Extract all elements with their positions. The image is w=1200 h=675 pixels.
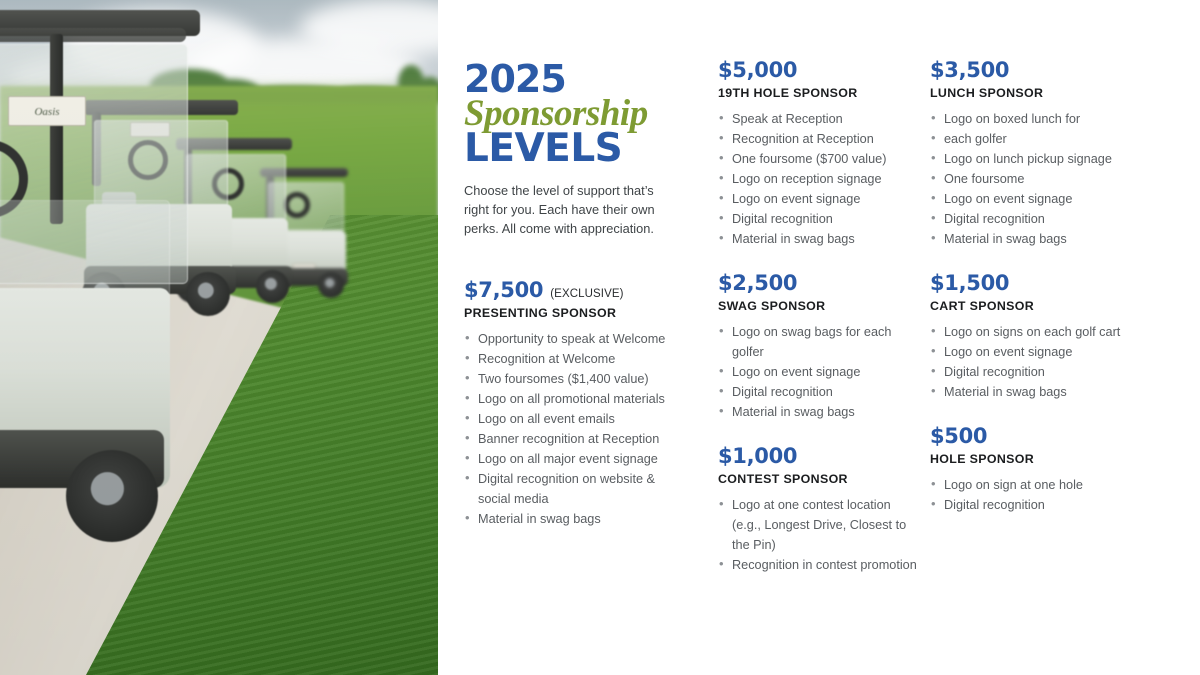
- cart-wheel: [66, 450, 158, 542]
- tier-perk-item: Recognition at Reception: [718, 129, 918, 149]
- tier-perk-item: Speak at Reception: [718, 109, 918, 129]
- sponsor-tier: $1,000CONTEST SPONSORLogo at one contest…: [718, 444, 918, 575]
- tier-price-row: $500: [930, 424, 1140, 449]
- sponsorship-levels-slide: Oasis 2025 Sponsorship LEVELS Choose the…: [0, 0, 1200, 675]
- tier-note: (EXCLUSIVE): [550, 288, 623, 300]
- cart-post: [50, 34, 63, 224]
- tier-name: LUNCH SPONSOR: [930, 86, 1140, 100]
- tier-perk-item: Logo on signs on each golf cart: [930, 322, 1140, 342]
- tier-perk-item: Banner recognition at Reception: [464, 429, 674, 449]
- cart-roof-edge: [0, 28, 186, 42]
- cart-wheel: [256, 270, 289, 303]
- tier-price-row: $2,500: [718, 271, 918, 296]
- tier-perk-item: Logo on reception signage: [718, 169, 918, 189]
- column-right: $3,500LUNCH SPONSORLogo on boxed lunch f…: [930, 58, 1140, 515]
- tier-perk-item: Logo on all major event signage: [464, 449, 674, 469]
- title-levels: LEVELS: [464, 129, 682, 168]
- tier-perk-item: Logo on sign at one hole: [930, 475, 1140, 495]
- tier-perk-item: Digital recognition: [718, 382, 918, 402]
- tier-price: $2,500: [718, 271, 797, 296]
- tier-price-row: $3,500: [930, 58, 1140, 83]
- tier-perk-item: Logo on event signage: [718, 189, 918, 209]
- tier-perk-item: Digital recognition: [718, 209, 918, 229]
- golf-carts-photo: Oasis: [0, 0, 438, 675]
- tier-perk-list: Logo on boxed lunch foreach golferLogo o…: [930, 109, 1140, 249]
- tier-price-row: $1,500: [930, 271, 1140, 296]
- tier-name: 19TH HOLE SPONSOR: [718, 86, 918, 100]
- tier-price-row: $1,000: [718, 444, 918, 469]
- tier-perk-item: Logo on all promotional materials: [464, 389, 674, 409]
- column-left: $7,500(EXCLUSIVE)PRESENTING SPONSOROppor…: [464, 278, 674, 529]
- tier-name: SWAG SPONSOR: [718, 299, 918, 313]
- sponsor-tier: $2,500SWAG SPONSORLogo on swag bags for …: [718, 271, 918, 422]
- tier-price-row: $7,500(EXCLUSIVE): [464, 278, 674, 303]
- title-year: 2025: [464, 62, 682, 97]
- tier-perk-item: Logo on event signage: [718, 362, 918, 382]
- tier-perk-item: One foursome ($700 value): [718, 149, 918, 169]
- title-description: Choose the level of support that’s right…: [464, 182, 676, 239]
- tier-perk-list: Logo on sign at one holeDigital recognit…: [930, 475, 1140, 515]
- golf-cart-nearest: Oasis: [0, 10, 200, 610]
- tier-perk-item: Logo on lunch pickup signage: [930, 149, 1140, 169]
- tier-perk-list: Opportunity to speak at WelcomeRecogniti…: [464, 329, 674, 530]
- tier-perk-item: Recognition in contest promotion: [718, 555, 918, 575]
- tier-price: $3,500: [930, 58, 1009, 83]
- tier-name: HOLE SPONSOR: [930, 452, 1140, 466]
- tier-price-row: $5,000: [718, 58, 918, 83]
- tier-name: CART SPONSOR: [930, 299, 1140, 313]
- title-block: 2025 Sponsorship LEVELS Choose the level…: [464, 62, 682, 239]
- tier-perk-item: One foursome: [930, 169, 1140, 189]
- tier-perk-item: Digital recognition on website & social …: [464, 469, 674, 509]
- tier-perk-item: Logo on all event emails: [464, 409, 674, 429]
- tier-perk-item: Material in swag bags: [464, 509, 674, 529]
- content-area: 2025 Sponsorship LEVELS Choose the level…: [438, 0, 1200, 675]
- tier-perk-list: Logo on swag bags for each golferLogo on…: [718, 322, 918, 422]
- tier-perk-item: Recognition at Welcome: [464, 349, 674, 369]
- tier-perk-item: Logo on event signage: [930, 342, 1140, 362]
- cart-badge-text: Oasis: [9, 97, 85, 127]
- tier-perk-item: Logo on event signage: [930, 189, 1140, 209]
- tier-perk-list: Logo on signs on each golf cartLogo on e…: [930, 322, 1140, 402]
- tier-perk-item: Digital recognition: [930, 209, 1140, 229]
- tier-perk-item: Logo at one contest location (e.g., Long…: [718, 495, 918, 555]
- tier-name: PRESENTING SPONSOR: [464, 306, 674, 320]
- tier-price: $1,000: [718, 444, 797, 469]
- sponsor-tier: $3,500LUNCH SPONSORLogo on boxed lunch f…: [930, 58, 1140, 249]
- tier-perk-item: Material in swag bags: [930, 229, 1140, 249]
- cart-wheel: [318, 272, 344, 298]
- tier-perk-item: Logo on boxed lunch for: [930, 109, 1140, 129]
- tier-price: $7,500: [464, 278, 543, 303]
- tier-perk-item: Digital recognition: [930, 362, 1140, 382]
- tier-perk-item: Logo on swag bags for each golfer: [718, 322, 918, 362]
- tier-price: $500: [930, 424, 987, 449]
- sponsor-tier: $1,500CART SPONSORLogo on signs on each …: [930, 271, 1140, 402]
- tier-price: $1,500: [930, 271, 1009, 296]
- tier-perk-item: Opportunity to speak at Welcome: [464, 329, 674, 349]
- tier-name: CONTEST SPONSOR: [718, 472, 918, 486]
- tier-price: $5,000: [718, 58, 797, 83]
- sponsor-tier: $500HOLE SPONSORLogo on sign at one hole…: [930, 424, 1140, 515]
- sponsor-tier: $7,500(EXCLUSIVE)PRESENTING SPONSOROppor…: [464, 278, 674, 529]
- tier-perk-item: Material in swag bags: [718, 402, 918, 422]
- cart-badge: Oasis: [8, 96, 86, 126]
- tier-perk-item: Two foursomes ($1,400 value): [464, 369, 674, 389]
- tier-perk-item: each golfer: [930, 129, 1140, 149]
- tier-perk-item: Material in swag bags: [718, 229, 918, 249]
- tier-perk-item: Digital recognition: [930, 495, 1140, 515]
- column-middle: $5,00019TH HOLE SPONSORSpeak at Receptio…: [718, 58, 918, 575]
- tier-perk-item: Material in swag bags: [930, 382, 1140, 402]
- sponsor-tier: $5,00019TH HOLE SPONSORSpeak at Receptio…: [718, 58, 918, 249]
- tier-perk-list: Logo at one contest location (e.g., Long…: [718, 495, 918, 575]
- tier-perk-list: Speak at ReceptionRecognition at Recepti…: [718, 109, 918, 249]
